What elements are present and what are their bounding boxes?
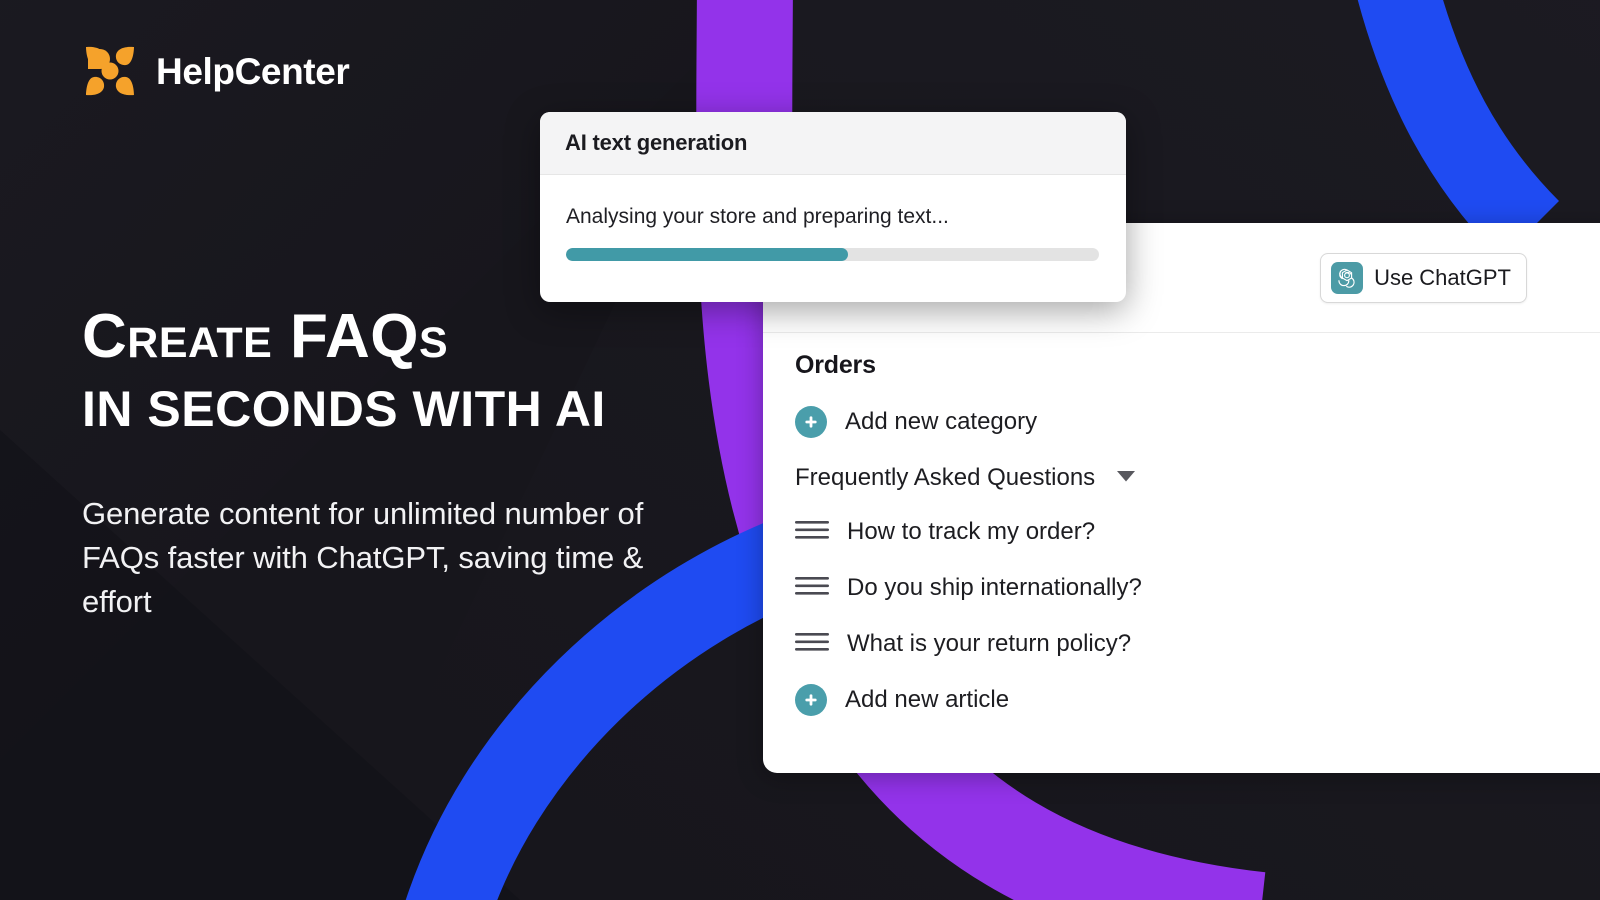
add-new-article-label: Add new article <box>845 686 1009 714</box>
article-list: How to track my order? Do you ship inter… <box>795 510 1600 666</box>
headline-line-2: IN SECONDS WITH AI <box>82 384 782 434</box>
progress-bar-fill <box>566 248 848 261</box>
plus-circle-icon <box>795 684 827 716</box>
list-item[interactable]: Do you ship internationally? <box>795 566 1600 610</box>
list-item-label: What is your return policy? <box>847 630 1131 658</box>
drag-handle-icon[interactable] <box>795 631 829 658</box>
helpcenter-flower-logo-icon <box>80 41 140 101</box>
add-new-category-row[interactable]: Add new category <box>795 400 1600 444</box>
add-new-article-row[interactable]: Add new article <box>795 678 1600 722</box>
chevron-down-icon[interactable] <box>1117 469 1135 487</box>
plus-circle-icon <box>795 406 827 438</box>
modal-status-text: Analysing your store and preparing text.… <box>566 205 1099 229</box>
use-chatgpt-button[interactable]: Use ChatGPT <box>1320 253 1527 303</box>
progress-bar <box>566 248 1099 261</box>
section-title: Orders <box>795 351 1600 380</box>
list-item[interactable]: What is your return policy? <box>795 622 1600 666</box>
hero-subtitle: Generate content for unlimited number of… <box>82 492 682 624</box>
openai-logo-icon <box>1331 262 1363 294</box>
add-new-category-label: Add new category <box>845 408 1037 436</box>
modal-header: AI text generation <box>540 112 1126 175</box>
list-item-label: How to track my order? <box>847 518 1095 546</box>
modal-body: Analysing your store and preparing text.… <box>540 175 1126 261</box>
category-faq-label: Frequently Asked Questions <box>795 464 1095 492</box>
app-preview-panel: Use ChatGPT Orders Add new category Freq… <box>763 223 1600 773</box>
list-item[interactable]: How to track my order? <box>795 510 1600 554</box>
list-item-label: Do you ship internationally? <box>847 574 1142 602</box>
category-faq-row[interactable]: Frequently Asked Questions <box>795 456 1600 500</box>
drag-handle-icon[interactable] <box>795 575 829 602</box>
brand-name: HelpCenter <box>156 53 349 90</box>
page-title: Create FAQs IN SECONDS WITH AI <box>82 306 782 434</box>
use-chatgpt-label: Use ChatGPT <box>1374 265 1511 291</box>
panel-content: Orders Add new category Frequently Asked… <box>795 351 1600 734</box>
ai-text-generation-modal: AI text generation Analysing your store … <box>540 112 1126 302</box>
headline-line-1: Create FAQs <box>82 306 782 368</box>
drag-handle-icon[interactable] <box>795 519 829 546</box>
modal-title: AI text generation <box>565 130 747 156</box>
hero-banner-stage: HelpCenter Create FAQs IN SECONDS WITH A… <box>0 0 1600 900</box>
brand-logo[interactable]: HelpCenter <box>80 41 349 101</box>
